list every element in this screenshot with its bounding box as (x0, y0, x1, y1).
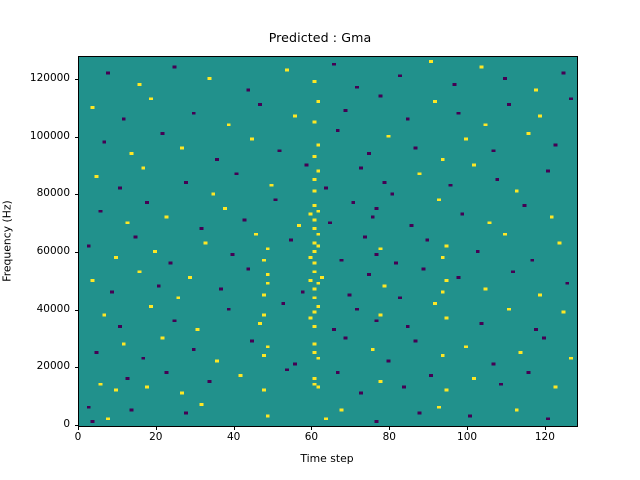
x-tick-label: 0 (48, 432, 108, 443)
y-tick-label: 20000 (10, 361, 70, 372)
y-tick-label: 100000 (10, 131, 70, 142)
x-axis-label: Time step (78, 452, 576, 465)
matplotlib-figure: Predicted : Gma Frequency (Hz) 020000400… (0, 0, 640, 480)
y-tick-label: 120000 (10, 73, 70, 84)
x-tick-label: 120 (515, 432, 575, 443)
y-axis-label: Frequency (Hz) (1, 200, 14, 281)
heatmap-image[interactable] (79, 57, 577, 426)
y-tick-label: 60000 (10, 246, 70, 257)
x-tick-label: 40 (204, 432, 264, 443)
page-title: Predicted : Gma (0, 30, 640, 45)
x-tick-label: 80 (359, 432, 419, 443)
y-tick-label: 80000 (10, 188, 70, 199)
y-tick-label: 40000 (10, 304, 70, 315)
x-tick-label: 100 (437, 432, 497, 443)
x-tick-label: 60 (281, 432, 341, 443)
heatmap-axes[interactable] (78, 56, 578, 427)
y-tick-label: 0 (10, 419, 70, 430)
x-tick-label: 20 (126, 432, 186, 443)
